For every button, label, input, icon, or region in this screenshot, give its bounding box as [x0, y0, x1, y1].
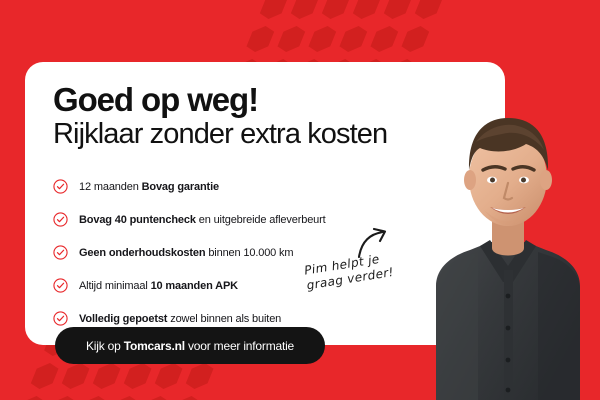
tread-row [244, 26, 485, 52]
check-circle-icon [53, 212, 68, 227]
tread-block-icon [319, 0, 352, 19]
list-item-label: Bovag 40 puntencheck en uitgebreide afle… [79, 214, 326, 226]
tread-block-icon [337, 26, 370, 52]
benefits-list: 12 maanden Bovag garantie Bovag 40 punte… [53, 174, 383, 339]
check-circle-icon [53, 278, 68, 293]
list-item-label: Altijd minimaal 10 maanden APK [79, 280, 238, 292]
tread-block-icon [90, 363, 123, 389]
tread-block-icon [170, 396, 203, 400]
check-circle-icon [53, 245, 68, 260]
list-item-label: 12 maanden Bovag garantie [79, 181, 219, 193]
tread-block-icon [368, 26, 401, 52]
tread-block-icon [108, 396, 141, 400]
tread-block-icon [59, 363, 92, 389]
tread-block-icon [152, 363, 185, 389]
tread-block-icon [275, 26, 308, 52]
tread-row [257, 0, 498, 19]
tread-row [28, 363, 259, 389]
tread-block-icon [15, 396, 48, 400]
tread-block-icon [121, 363, 154, 389]
tread-block-icon [350, 0, 383, 19]
tread-block-icon [46, 396, 79, 400]
headline-line-1: Goed op weg! [53, 83, 387, 117]
list-item: 12 maanden Bovag garantie [53, 174, 383, 199]
tread-block-icon [257, 0, 290, 19]
promo-banner: Goed op weg! Rijklaar zonder extra koste… [0, 0, 600, 400]
tread-block-icon [288, 0, 321, 19]
list-item: Bovag 40 puntencheck en uitgebreide afle… [53, 207, 383, 232]
tread-block-icon [412, 0, 445, 19]
tread-row [15, 396, 246, 400]
tread-block-icon [183, 363, 216, 389]
list-item-label: Geen onderhoudskosten binnen 10.000 km [79, 247, 293, 259]
check-circle-icon [53, 311, 68, 326]
tread-block-icon [381, 0, 414, 19]
page-title: Goed op weg! Rijklaar zonder extra koste… [53, 83, 387, 149]
tread-block-icon [77, 396, 110, 400]
salesperson-photo [418, 90, 600, 400]
cta-button-label: Kijk op Tomcars.nl voor meer informatie [86, 339, 294, 353]
headline-line-2: Rijklaar zonder extra kosten [53, 120, 387, 150]
tread-block-icon [244, 26, 277, 52]
tread-block-icon [28, 363, 61, 389]
tread-block-icon [139, 396, 172, 400]
tread-block-icon [306, 26, 339, 52]
check-circle-icon [53, 179, 68, 194]
tread-block-icon [399, 26, 432, 52]
cta-button[interactable]: Kijk op Tomcars.nl voor meer informatie [55, 327, 325, 364]
list-item-label: Volledig gepoetst zowel binnen als buite… [79, 313, 281, 325]
